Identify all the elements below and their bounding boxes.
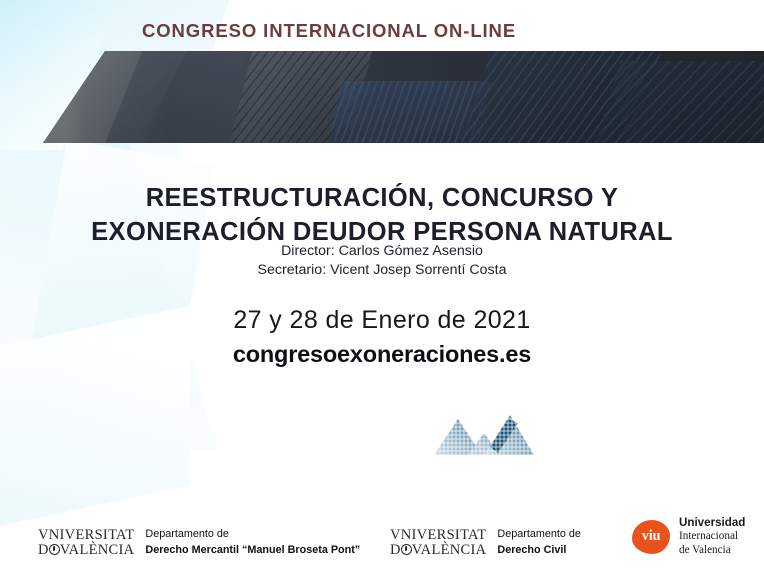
uv-logo-line-2-pre: D: [390, 542, 401, 558]
viu-line-1: Universidad: [679, 516, 745, 530]
uv-emblem-icon: [49, 544, 60, 555]
viu-mark-text: viu: [642, 528, 660, 545]
viu-line-3: de Valencia: [679, 544, 745, 558]
kicker-text: CONGRESO INTERNACIONAL ON-LINE: [142, 20, 516, 42]
universitat-de-valencia-logo: VNIVERSITAT DVALÈNCIA: [390, 528, 486, 558]
secretary-line: Secretario: Vicent Josep Sorrentí Costa: [0, 261, 764, 280]
director-line: Director: Carlos Gómez Asensio: [0, 242, 764, 261]
department-label: Departamento de: [145, 527, 360, 542]
event-dates: 27 y 28 de Enero de 2021: [0, 306, 764, 335]
uv-logo-line-2-pre: D: [38, 542, 49, 558]
department-label: Departamento de: [497, 527, 580, 542]
uv-emblem-icon: [401, 544, 412, 555]
department-text: Departamento de Derecho Civil: [497, 527, 580, 558]
halftone-mountains-icon: [432, 407, 536, 457]
universitat-de-valencia-logo: VNIVERSITAT DVALÈNCIA: [38, 528, 134, 558]
organization-uv-civil: VNIVERSITAT DVALÈNCIA Departamento de De…: [390, 527, 581, 558]
organization-viu: viu Universidad Internacional de Valenci…: [632, 516, 745, 558]
decor-shape-4: [0, 306, 190, 535]
department-name: Derecho Civil: [497, 543, 580, 558]
sponsor-footer: VNIVERSITAT DVALÈNCIA Departamento de De…: [0, 506, 764, 568]
page-title: REESTRUCTURACIÓN, CONCURSO Y EXONERACIÓN…: [0, 182, 764, 249]
congress-poster: CONGRESO INTERNACIONAL ON-LINE REESTRUCT…: [0, 0, 764, 568]
viu-line-2: Internacional: [679, 530, 745, 544]
uv-logo-line-1: VNIVERSITAT: [390, 528, 486, 543]
decor-shape-2: [0, 120, 217, 450]
uv-logo-line-1: VNIVERSITAT: [38, 528, 134, 543]
title-line-1: REESTRUCTURACIÓN, CONCURSO Y: [0, 182, 764, 216]
organization-uv-mercantil: VNIVERSITAT DVALÈNCIA Departamento de De…: [38, 527, 360, 558]
department-text: Departamento de Derecho Mercantil “Manue…: [145, 527, 360, 558]
viu-name-text: Universidad Internacional de Valencia: [679, 516, 745, 558]
uv-logo-line-2-post: VALÈNCIA: [412, 542, 487, 558]
uv-logo-line-2-post: VALÈNCIA: [60, 542, 135, 558]
credits-block: Director: Carlos Gómez Asensio Secretari…: [0, 242, 764, 280]
viu-logo-icon: viu: [632, 520, 670, 554]
event-website[interactable]: congresoexoneraciones.es: [0, 341, 764, 368]
uv-logo-line-2: DVALÈNCIA: [390, 543, 486, 558]
skyline-banner-image: [0, 51, 764, 143]
department-name: Derecho Mercantil “Manuel Broseta Pont”: [145, 543, 360, 558]
uv-logo-line-2: DVALÈNCIA: [38, 543, 134, 558]
